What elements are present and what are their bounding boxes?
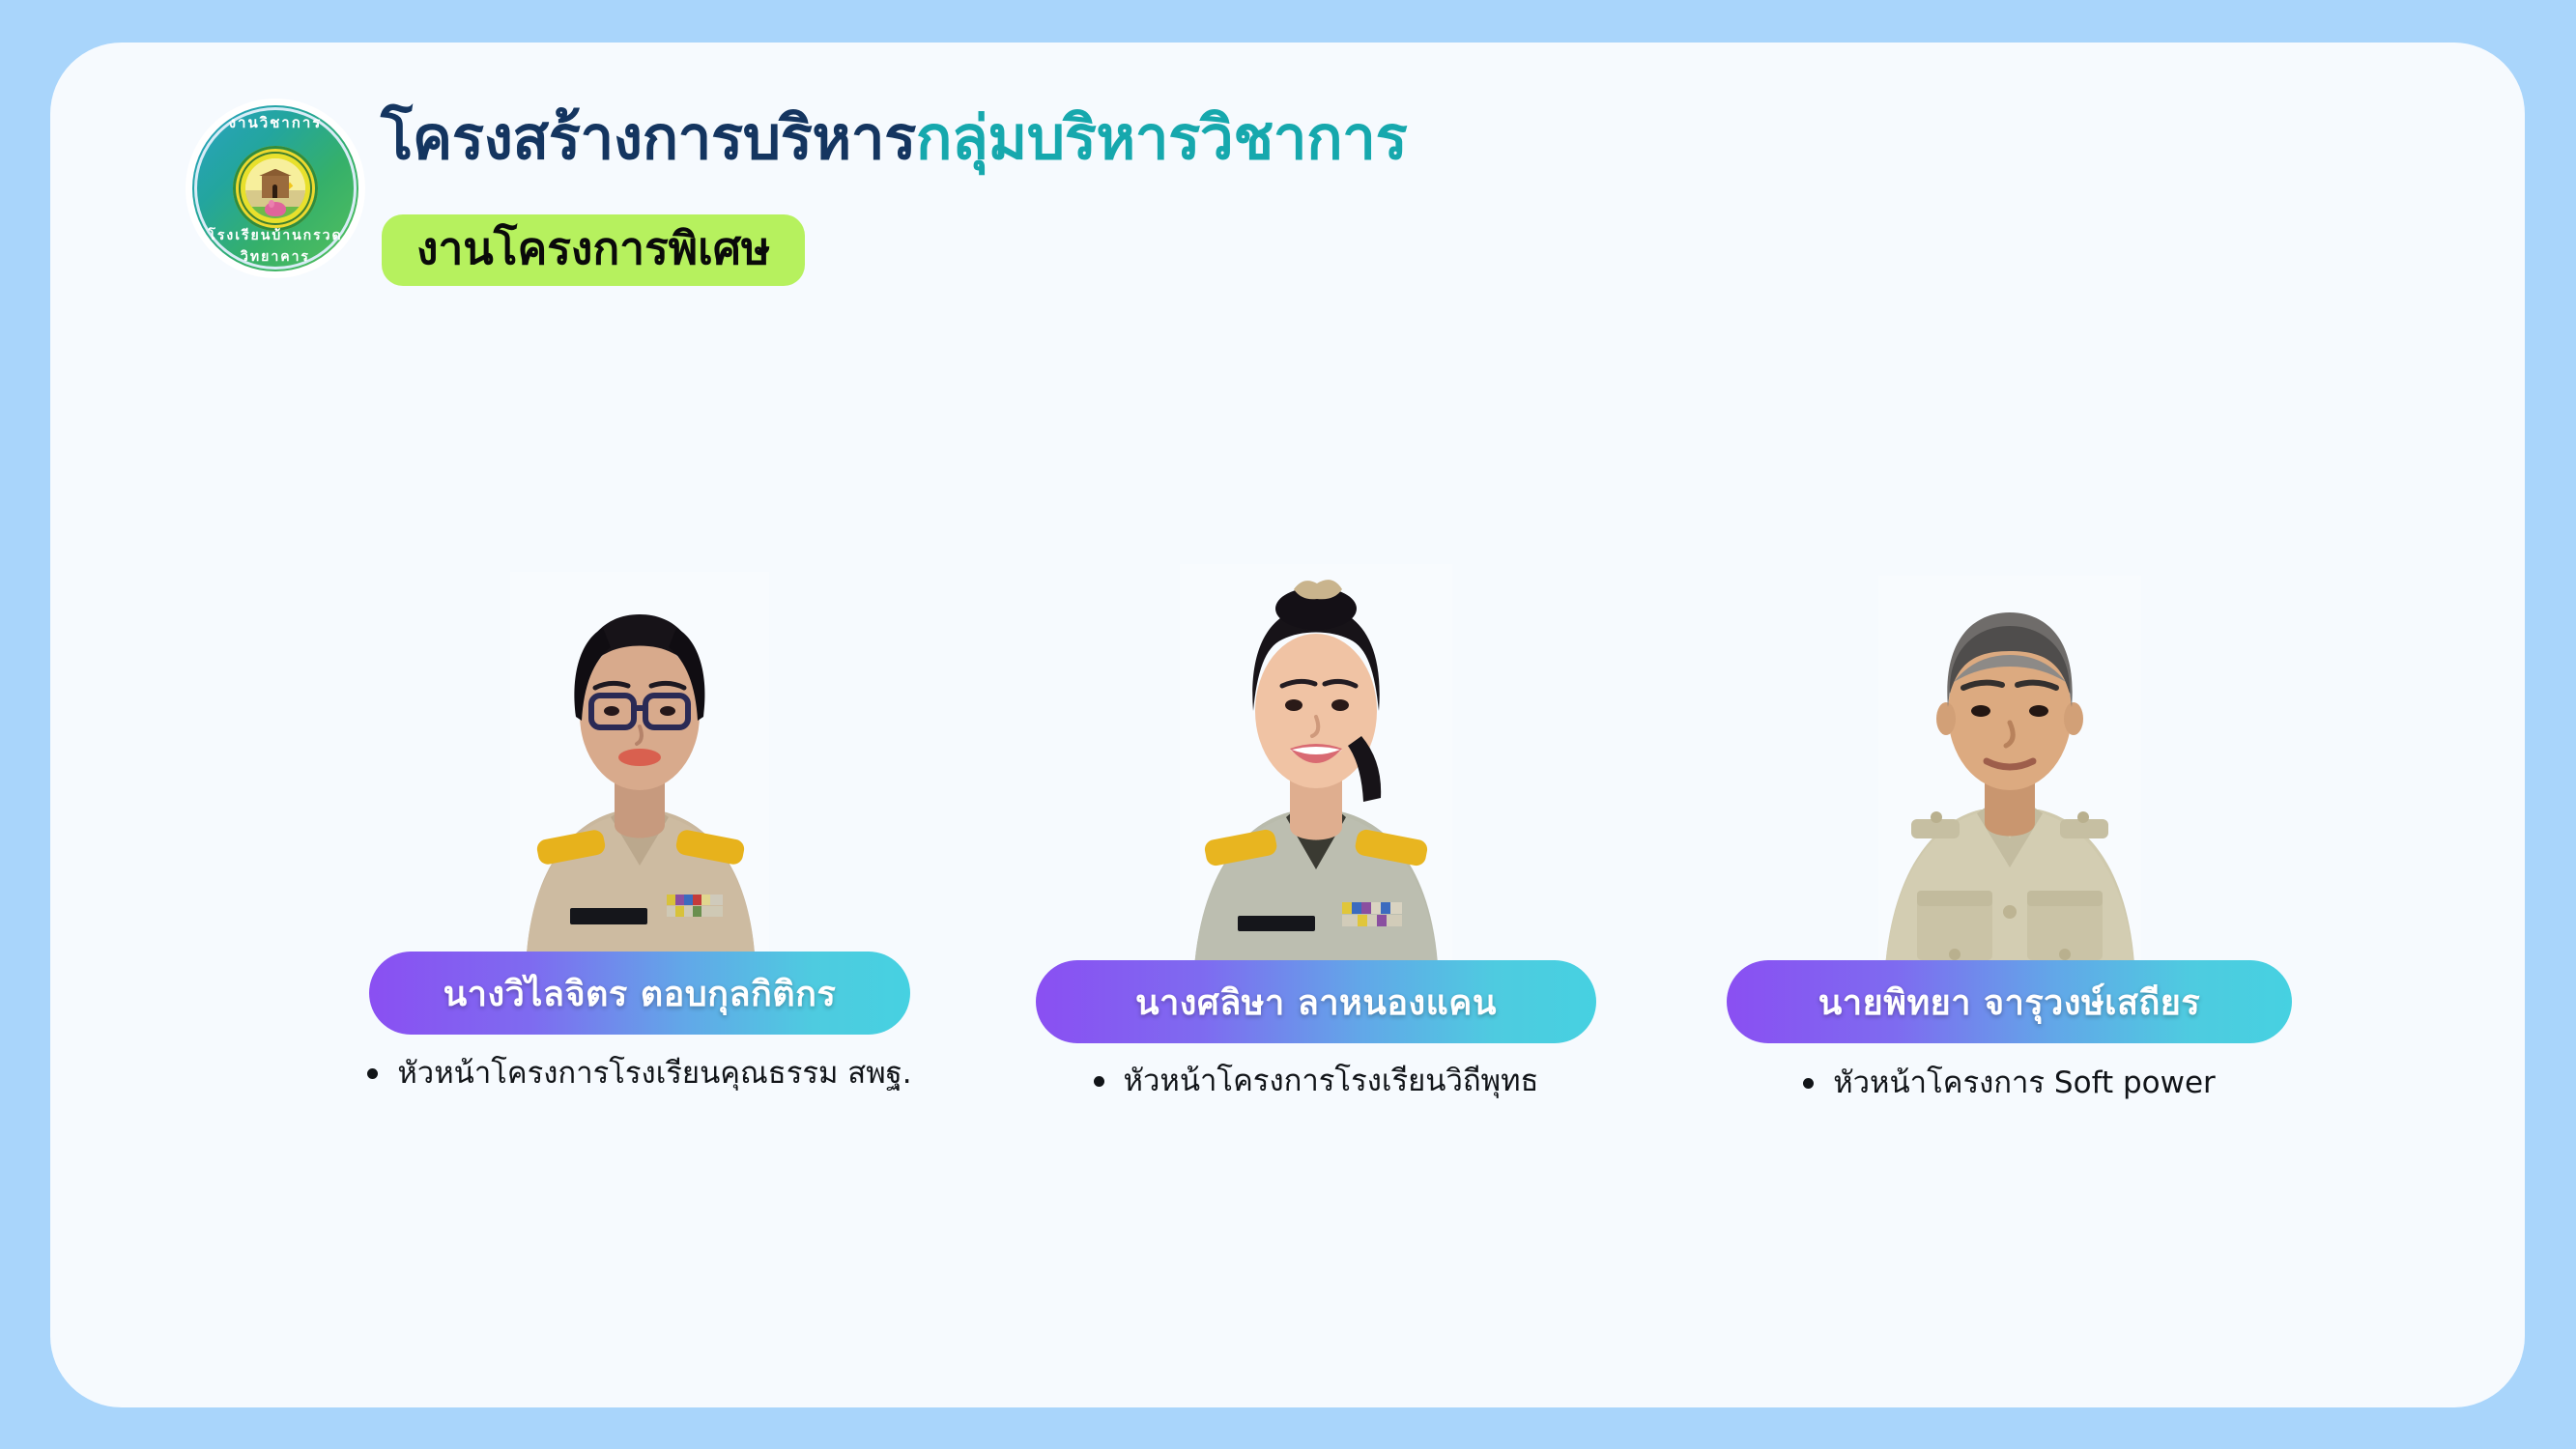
- person-name: นางศลิษา ลาหนองแคน: [1135, 975, 1497, 1030]
- person-name: นายพิทยา จารุวงษ์เสถียร: [1818, 975, 2200, 1030]
- logo-inner-disc: [233, 146, 318, 231]
- avatar: [1878, 576, 2141, 981]
- avatar: [1180, 564, 1452, 981]
- logo-inner-disc-2: [239, 152, 311, 224]
- page-title: โครงสร้างการบริหารกลุ่มบริหารวิชาการ: [381, 106, 1407, 169]
- temple-door: [272, 185, 277, 198]
- person-role-text: หัวหน้าโครงการ Soft power: [1833, 1065, 2216, 1102]
- people-row: นางวิไลจิตร ตอบกุลกิติกร หัวหน้าโครงการโ…: [50, 545, 2525, 1163]
- temple-icon: [262, 174, 289, 198]
- school-logo: งานวิชาการ โรงเรียนบ้านกรวดวิทยาคาร: [186, 99, 365, 278]
- flowers-icon: [265, 202, 286, 216]
- bullet-icon: [1803, 1078, 1814, 1089]
- person-role-text: หัวหน้าโครงการโรงเรียนคุณธรรม สพฐ.: [397, 1055, 911, 1093]
- slide-header: งานวิชาการ โรงเรียนบ้านกรวดวิทยาคาร โครง…: [50, 43, 2525, 294]
- name-pill: นางศลิษา ลาหนองแคน: [1036, 960, 1596, 1043]
- person-role: หัวหน้าโครงการโรงเรียนคุณธรรม สพฐ.: [369, 1055, 910, 1093]
- person-name: นางวิไลจิตร ตอบกุลกิติกร: [444, 966, 837, 1021]
- section-badge: งานโครงการพิเศษ: [382, 214, 805, 286]
- logo-seal-scene: [245, 158, 305, 218]
- logo-text-top: งานวิชาการ: [186, 111, 365, 134]
- person-role-text: หัวหน้าโครงการโรงเรียนวิถีพุทธ: [1124, 1063, 1539, 1100]
- avatar: [510, 572, 769, 970]
- content-card: งานวิชาการ โรงเรียนบ้านกรวดวิทยาคาร โครง…: [50, 43, 2525, 1407]
- page-title-part1: โครงสร้างการบริหาร: [381, 102, 916, 173]
- name-pill: นางวิไลจิตร ตอบกุลกิติกร: [369, 952, 910, 1035]
- logo-text-bottom: โรงเรียนบ้านกรวดวิทยาคาร: [186, 225, 365, 268]
- slide-stage: งานวิชาการ โรงเรียนบ้านกรวดวิทยาคาร โครง…: [0, 0, 2576, 1449]
- person-role: หัวหน้าโครงการ Soft power: [1727, 1065, 2292, 1102]
- person-role: หัวหน้าโครงการโรงเรียนวิถีพุทธ: [1036, 1063, 1596, 1100]
- page-title-part2: กลุ่มบริหารวิชาการ: [916, 102, 1407, 173]
- bullet-icon: [367, 1068, 378, 1079]
- name-pill: นายพิทยา จารุวงษ์เสถียร: [1727, 960, 2292, 1043]
- bullet-icon: [1094, 1076, 1104, 1087]
